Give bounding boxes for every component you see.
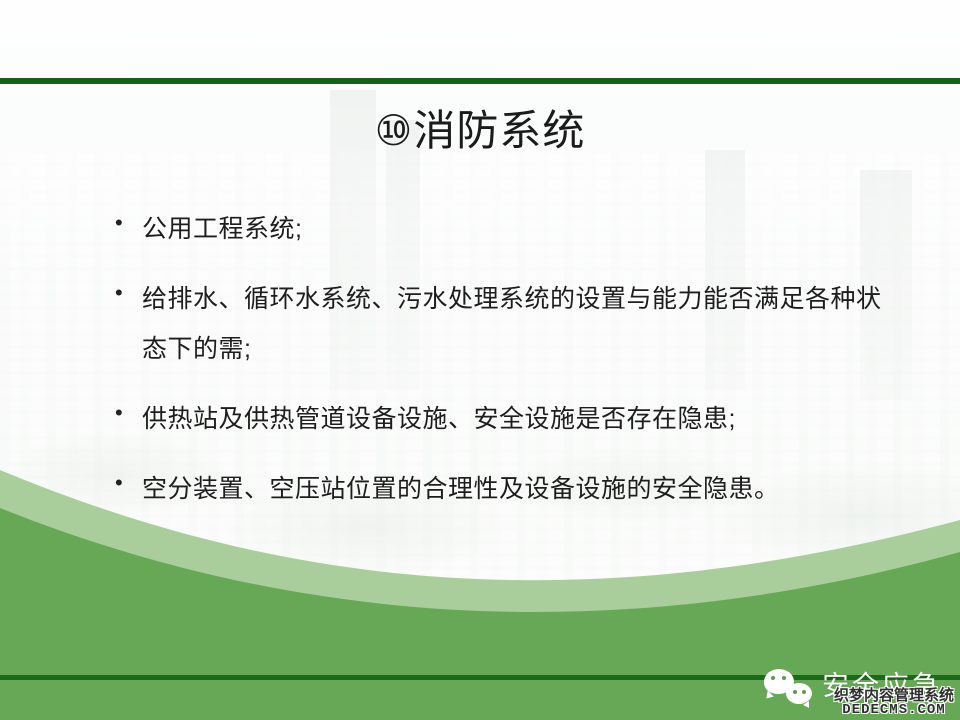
list-item: • 供热站及供热管道设备设施、安全设施是否存在隐患; (106, 394, 906, 444)
wechat-bubble-small-dot-left (793, 690, 797, 694)
wechat-account-name: 安全应急 (822, 670, 942, 702)
list-item-text: 供热站及供热管道设备设施、安全设施是否存在隐患; (142, 394, 906, 444)
wechat-bubble-small (786, 683, 812, 704)
wechat-account-branding: 安全应急 (764, 668, 942, 704)
wechat-icon (764, 668, 812, 704)
wechat-bubble-small-dot-right (802, 690, 806, 694)
top-divider-rule (0, 78, 960, 84)
page-title: ⑩消防系统 (0, 104, 960, 158)
list-item-text: 给排水、循环水系统、污水处理系统的设置与能力能否满足各种状态下的需; (142, 274, 906, 374)
bullet-marker-icon: • (106, 274, 142, 312)
list-item: • 给排水、循环水系统、污水处理系统的设置与能力能否满足各种状态下的需; (106, 274, 906, 374)
bullet-marker-icon: • (106, 204, 142, 242)
list-item-text: 公用工程系统; (142, 204, 906, 254)
list-item: • 公用工程系统; (106, 204, 906, 254)
wechat-bubble-large-dot-right (782, 676, 786, 680)
bullet-marker-icon: • (106, 394, 142, 432)
wechat-bubble-large-dot-left (771, 676, 775, 680)
slide-canvas: ⑩消防系统 • 公用工程系统; • 给排水、循环水系统、污水处理系统的设置与能力… (0, 0, 960, 720)
